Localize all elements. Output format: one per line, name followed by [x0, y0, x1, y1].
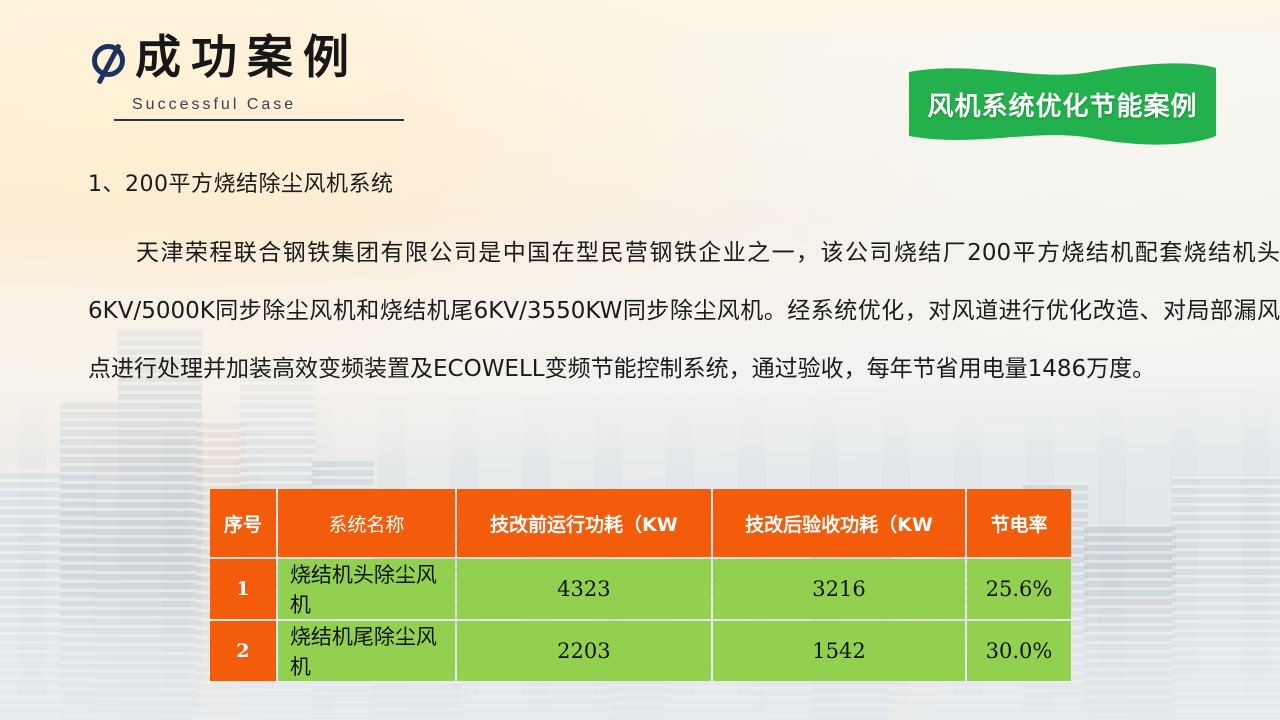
- cell-before: 2203: [457, 621, 711, 681]
- cell-before: 4323: [457, 559, 711, 619]
- page-subtitle: Successful Case: [132, 96, 404, 114]
- table-header-index: 序号: [210, 489, 276, 557]
- cell-rate: 25.6%: [967, 559, 1071, 619]
- cell-rate: 30.0%: [967, 621, 1071, 681]
- cell-index: 1: [210, 559, 276, 619]
- section-heading: 1、200平方烧结除尘风机系统: [88, 166, 1280, 198]
- section-banner: 风机系统优化节能案例: [905, 60, 1220, 148]
- table-header-rate: 节电率: [967, 489, 1071, 557]
- table-header-row: 序号 系统名称 技改前运行功耗（KW 技改后验收功耗（KW 节电率: [210, 489, 1071, 557]
- page-title: 成功案例: [135, 34, 359, 80]
- results-table: 序号 系统名称 技改前运行功耗（KW 技改后验收功耗（KW 节电率 1 烧结机头…: [208, 487, 1073, 683]
- page-title-block: 成功案例 Successful Case: [92, 34, 404, 121]
- cell-after: 3216: [713, 559, 965, 619]
- body-text-block: 1、200平方烧结除尘风机系统 天津荣程联合钢铁集团有限公司是中国在型民营钢铁企…: [88, 166, 1280, 398]
- cell-index: 2: [210, 621, 276, 681]
- cell-after: 1542: [713, 621, 965, 681]
- section-paragraph: 天津荣程联合钢铁集团有限公司是中国在型民营钢铁企业之一，该公司烧结厂200平方烧…: [88, 224, 1280, 398]
- table-row: 2 烧结机尾除尘风机 2203 1542 30.0%: [210, 621, 1071, 681]
- slide-canvas: 成功案例 Successful Case 风机系统优化节能案例 1、200平方烧…: [0, 0, 1280, 720]
- table-row: 1 烧结机头除尘风机 4323 3216 25.6%: [210, 559, 1071, 619]
- title-divider: [114, 119, 404, 121]
- circle-slash-icon: [92, 44, 125, 77]
- table-header-after: 技改后验收功耗（KW: [713, 489, 965, 557]
- section-banner-label: 风机系统优化节能案例: [905, 86, 1220, 123]
- cell-system: 烧结机头除尘风机: [278, 559, 455, 619]
- table-header-before: 技改前运行功耗（KW: [457, 489, 711, 557]
- cell-system: 烧结机尾除尘风机: [278, 621, 455, 681]
- table-header-system: 系统名称: [278, 489, 455, 557]
